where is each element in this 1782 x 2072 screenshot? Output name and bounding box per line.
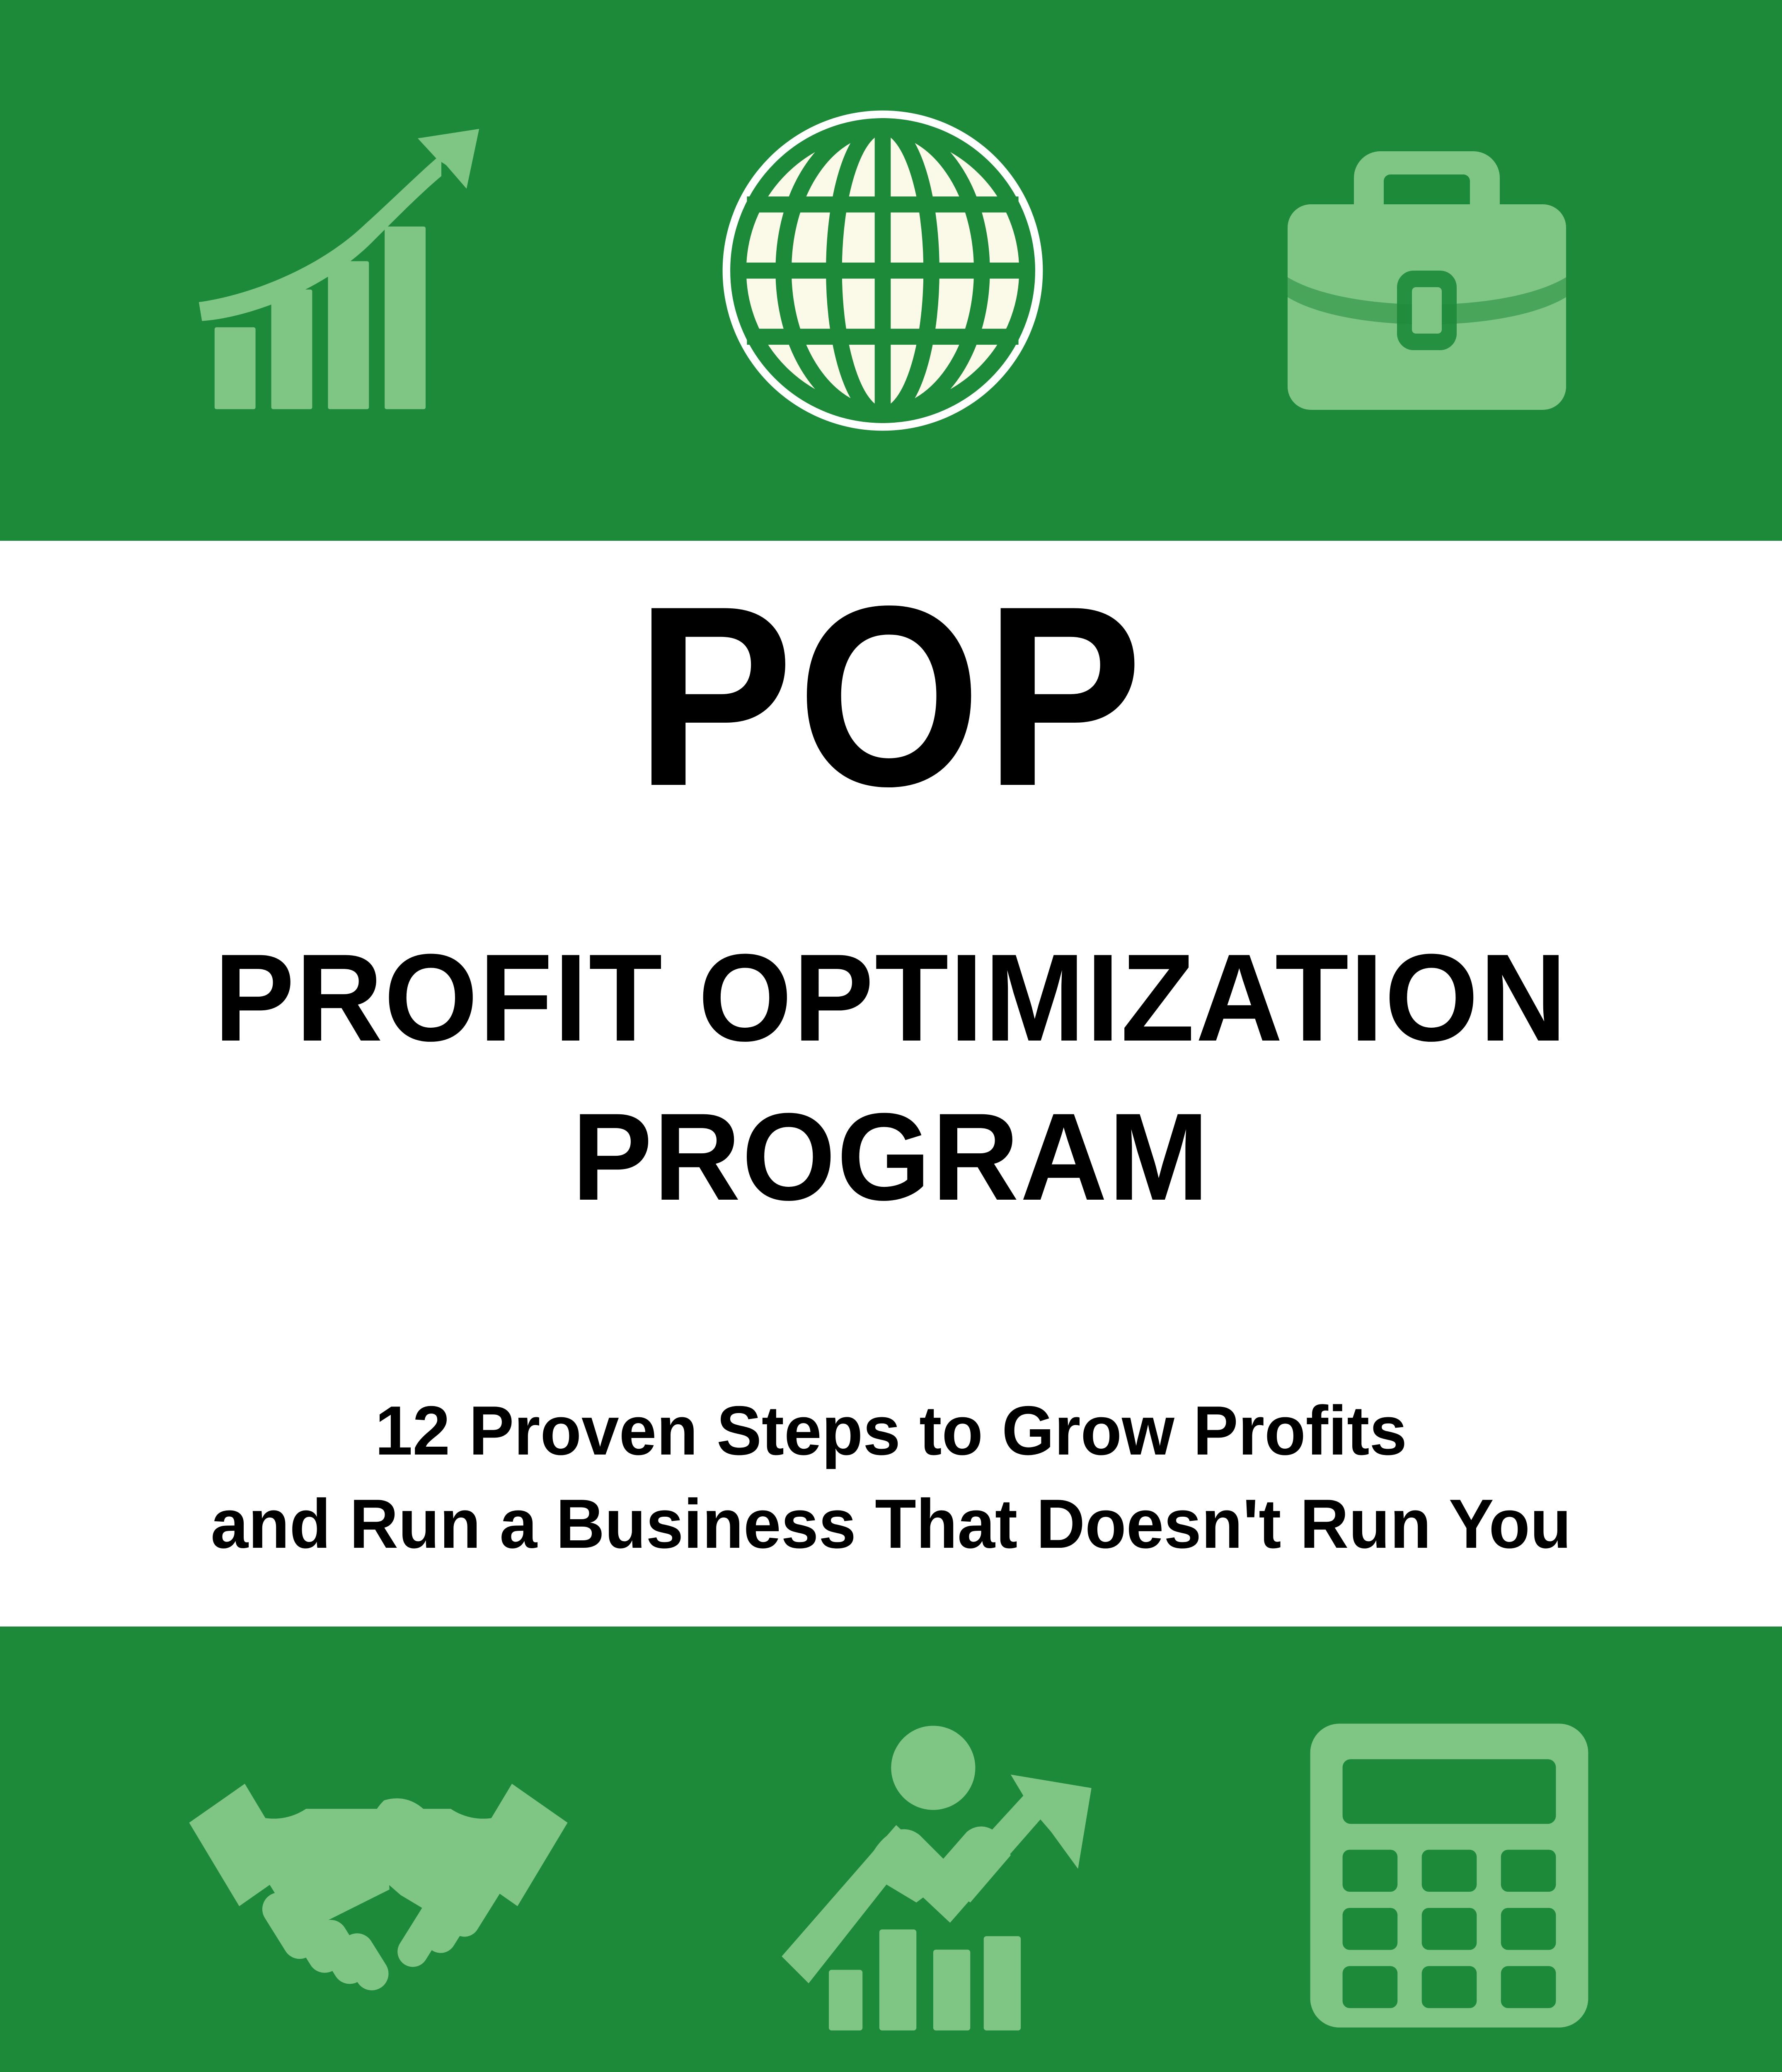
person-growth-chart-icon — [767, 1714, 1106, 2037]
bottom-icon-band — [0, 1627, 1782, 2072]
handshake-icon — [184, 1739, 573, 2012]
subtitle: 12 Proven Steps to Grow Profits and Run … — [0, 1384, 1782, 1571]
book-cover: POP PROFIT OPTIMIZATION PROGRAM 12 Prove… — [0, 0, 1782, 2072]
page-title-acronym: POP — [71, 568, 1711, 825]
top-icon-band — [0, 0, 1782, 541]
subtitle-line-2: and Run a Business That Doesn't Run You — [27, 1477, 1755, 1571]
globe-icon — [709, 97, 1057, 445]
subtitle-line-1: 12 Proven Steps to Grow Profits — [27, 1384, 1755, 1477]
briefcase-icon — [1261, 105, 1593, 436]
main-title-line-2: PROGRAM — [27, 1077, 1755, 1236]
growth-bar-chart-arrow-icon — [189, 113, 504, 428]
main-title-line-1: PROFIT OPTIMIZATION — [27, 918, 1755, 1077]
main-title: PROFIT OPTIMIZATION PROGRAM — [0, 918, 1782, 1236]
calculator-icon — [1300, 1714, 1598, 2037]
